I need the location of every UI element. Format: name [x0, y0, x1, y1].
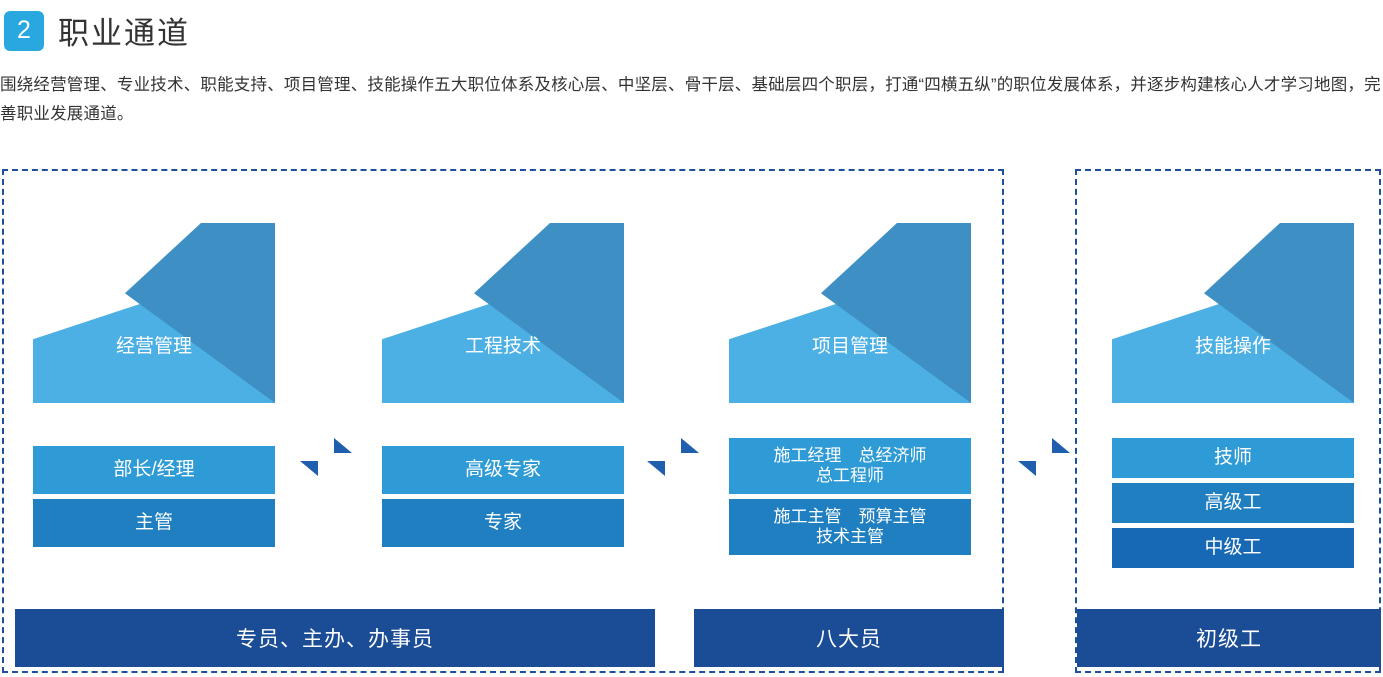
double-arrow-icon — [645, 434, 701, 480]
level-label-1: 公司高管 — [33, 403, 275, 430]
double-arrow-icon — [298, 434, 354, 480]
pyramid-roof: 工程技术 首席专家 — [382, 223, 624, 403]
level-band-3: 主管 — [33, 499, 275, 547]
column-engineering: 工程技术 首席专家 高级专家 专家 — [382, 223, 624, 547]
page-title: 职业通道 — [58, 8, 190, 53]
column-title: 技能操作 — [1112, 331, 1354, 358]
level-label-1: 项目经理 — [729, 403, 971, 430]
level-band-4: 中级工 — [1112, 528, 1354, 568]
column-management: 经营管理 公司高管 部长/经理 主管 — [33, 223, 275, 547]
level-band-3: 专家 — [382, 499, 624, 547]
double-arrow-icon — [1016, 434, 1072, 480]
section-number-badge: 2 — [4, 11, 44, 51]
level-band-3: 高级工 — [1112, 483, 1354, 523]
career-path-diagram: 经营管理 公司高管 部长/经理 主管 工程技术 首席专家 高级专家 专家 — [0, 165, 1383, 677]
pyramid-roof: 经营管理 公司高管 — [33, 223, 275, 403]
pyramid-roof: 项目管理 项目经理 — [729, 223, 971, 403]
column-title: 工程技术 — [382, 331, 624, 358]
level-band-2: 施工经理 总经济师 总工程师 — [729, 438, 971, 494]
footer-bar-right: 初级工 — [1077, 609, 1381, 667]
level-band-3: 施工主管 预算主管 技术主管 — [729, 499, 971, 555]
column-skills: 技能操作 高级技师 技师 高级工 中级工 — [1112, 223, 1354, 568]
column-title: 项目管理 — [729, 331, 971, 358]
level-label-1: 高级技师 — [1112, 403, 1354, 430]
level-band-2: 技师 — [1112, 438, 1354, 478]
level-band-3-line1: 施工主管 预算主管 — [774, 507, 927, 527]
level-band-2-line1: 施工经理 总经济师 — [774, 446, 927, 466]
level-label-1: 首席专家 — [382, 403, 624, 430]
footer-bar-middle: 八大员 — [694, 609, 1004, 667]
column-title: 经营管理 — [33, 331, 275, 358]
column-project: 项目管理 项目经理 施工经理 总经济师 总工程师 施工主管 预算主管 技术主管 — [729, 223, 971, 555]
pyramid-roof: 技能操作 高级技师 — [1112, 223, 1354, 403]
intro-paragraph: 围绕经营管理、专业技术、职能支持、项目管理、技能操作五大职位体系及核心层、中坚层… — [0, 71, 1383, 129]
level-band-2: 高级专家 — [382, 446, 624, 494]
level-band-2: 部长/经理 — [33, 446, 275, 494]
footer-bar-left: 专员、主办、办事员 — [15, 609, 655, 667]
level-band-3-line2: 技术主管 — [816, 527, 884, 547]
page-header: 2 职业通道 — [0, 0, 1383, 53]
level-band-2-line2: 总工程师 — [816, 466, 884, 486]
